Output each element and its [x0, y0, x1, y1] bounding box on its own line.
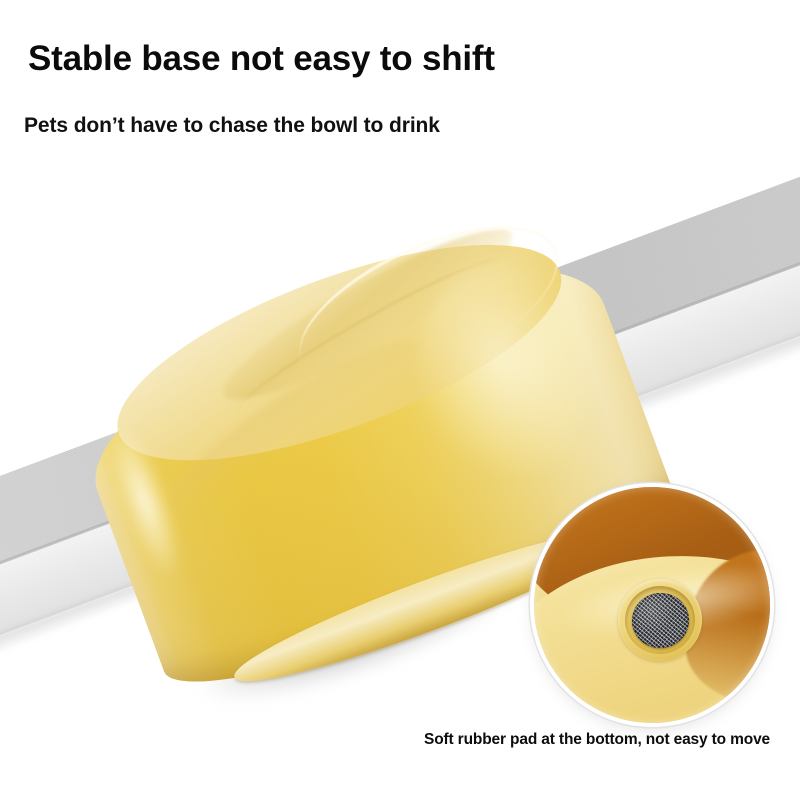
product-marketing-image: Stable base not easy to shift Pets don’t…	[0, 0, 800, 800]
page-title: Stable base not easy to shift	[28, 40, 495, 77]
magnifier-inset-circle	[534, 487, 770, 723]
soft-rubber-pad	[629, 590, 691, 651]
detail-caption: Soft rubber pad at the bottom, not easy …	[424, 731, 770, 749]
page-subtitle: Pets don’t have to chase the bowl to dri…	[24, 114, 440, 137]
